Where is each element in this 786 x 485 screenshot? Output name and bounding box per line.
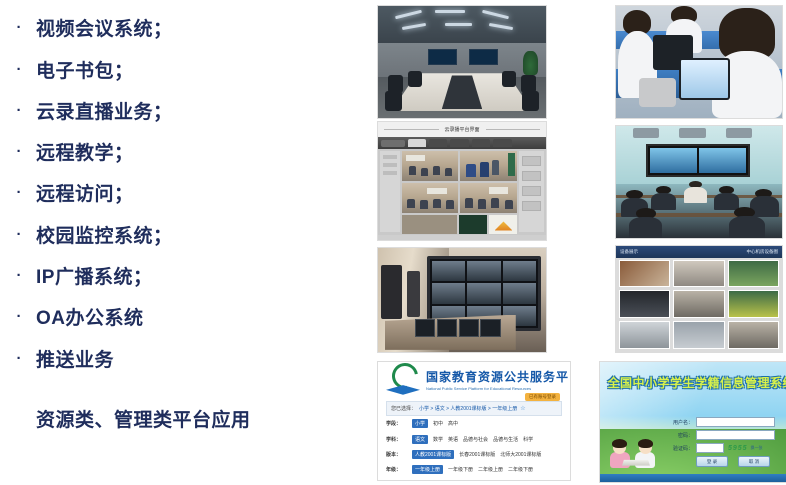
video-cell[interactable]	[402, 151, 459, 181]
breadcrumb-path[interactable]: 小学 > 语文 > 人教2001课标版 > 一年级上册	[419, 405, 517, 412]
gallery-thumb[interactable]	[728, 321, 779, 349]
remote-classroom-photo	[616, 126, 782, 238]
gallery-header-right: 中心机房设备图	[747, 249, 779, 255]
filmstrip-item[interactable]	[459, 215, 487, 234]
list-item: · 远程访问；	[14, 179, 134, 205]
platform-logo-icon	[386, 363, 420, 397]
video-cell-selected[interactable]	[460, 183, 517, 213]
username-input[interactable]	[696, 417, 775, 427]
tab-recording-manage[interactable]	[429, 139, 447, 147]
filmstrip-item[interactable]	[489, 215, 517, 234]
filter-option[interactable]: 品德与社会	[463, 436, 488, 443]
gallery-thumb[interactable]	[619, 260, 670, 288]
filter-option[interactable]: 品德与生活	[493, 436, 518, 443]
bullet-label: 电子书包；	[36, 56, 134, 83]
login-form: 用户名： 密码： 验证码： 5955 换一张 登 录 取 消	[667, 417, 775, 467]
filter-row-edition: 版本： 人教2001课标版 长春2001课标版 北师大2001课标版	[386, 447, 566, 462]
thumbnail-filmstrip	[402, 215, 518, 234]
filter-option-selected[interactable]: 人教2001课标版	[412, 450, 454, 459]
recording-platform-toolbar	[378, 137, 546, 149]
bullet-dot-icon: ·	[14, 185, 24, 200]
bullet-label: 远程教学；	[36, 138, 134, 165]
captcha-row: 验证码： 5955 换一张	[667, 443, 775, 453]
bullet-label: IP广播系统；	[36, 262, 152, 289]
filter-option[interactable]: 高中	[448, 420, 458, 427]
list-item: · 推送业务	[14, 345, 114, 371]
captcha-input[interactable]	[696, 443, 724, 453]
list-item: · 电子书包；	[14, 56, 134, 82]
username-label: 用户名：	[667, 419, 693, 426]
filmstrip-item[interactable]	[402, 215, 458, 234]
platform-title-cn: 国家教育资源公共服务平台	[426, 368, 570, 385]
education-resource-platform: 国家教育资源公共服务平台 National Public Service Pla…	[378, 362, 570, 480]
illustration-children	[607, 420, 670, 468]
bullet-list: · 视频会议系统； · 电子书包； · 云录直播业务； · 远程教学； · 远程…	[0, 0, 360, 485]
bullet-dot-icon: ·	[14, 62, 24, 77]
filter-label: 年级：	[386, 466, 412, 473]
gallery-header-left: 设备展示	[620, 249, 638, 255]
tablet-classroom-photo	[616, 6, 782, 118]
video-grid	[402, 151, 518, 213]
bullet-label: 校园监控系统；	[36, 221, 173, 248]
video-cell[interactable]	[460, 151, 517, 181]
filter-option[interactable]: 一年级下册	[448, 466, 473, 473]
breadcrumb: 您已选择： 小学 > 语文 > 人教2001课标版 > 一年级上册 ☆	[386, 401, 562, 416]
filter-option[interactable]: 北师大2001课标版	[500, 451, 541, 458]
gallery-header: 设备展示 中心机房设备图	[616, 246, 782, 258]
bullet-label: 远程访问；	[36, 179, 134, 206]
student-info-system-login: 全国中小学学生学籍信息管理系统 用户名： 密码： 验证码：	[600, 362, 786, 482]
recording-platform-screenshot: 云录播平台界面	[378, 122, 546, 240]
platform-side-panel	[380, 151, 400, 232]
password-row: 密码：	[667, 430, 775, 440]
list-item: · 视频会议系统；	[14, 14, 173, 40]
platform-control-panel	[519, 151, 544, 232]
refresh-captcha-link[interactable]: 换一张	[751, 445, 763, 451]
filter-option[interactable]: 长春2001课标版	[459, 451, 495, 458]
gallery-thumb[interactable]	[728, 260, 779, 288]
filter-option-selected[interactable]: 一年级上册	[412, 465, 443, 474]
list-item: · IP广播系统；	[14, 262, 152, 288]
filter-row-subject: 学科： 语文 数学 英语 品德与社会 品德与生活 科学	[386, 432, 566, 447]
bullet-dot-icon: ·	[14, 20, 24, 35]
gallery-thumb[interactable]	[619, 290, 670, 318]
filter-label: 学段：	[386, 420, 412, 427]
captcha-label: 验证码：	[667, 445, 693, 452]
dual-display	[646, 144, 750, 177]
bullet-dot-icon: ·	[14, 144, 24, 159]
filter-label: 学科：	[386, 436, 412, 443]
filter-option[interactable]: 二年级下册	[508, 466, 533, 473]
video-cell[interactable]	[402, 183, 459, 213]
bullet-label: 云录直播业务；	[36, 97, 173, 124]
platform-logo	[381, 140, 405, 147]
bullet-dot-icon: ·	[14, 268, 24, 283]
password-label: 密码：	[667, 432, 693, 439]
login-badge[interactable]: 已有账号登录	[525, 393, 560, 401]
filter-option[interactable]: 初中	[433, 420, 443, 427]
filter-rows: 学段： 小学 初中 高中 学科： 语文 数学 英语 品德与社会 品德与生活 科学…	[386, 416, 566, 477]
control-room-photo	[378, 248, 546, 352]
equipment-gallery: 设备展示 中心机房设备图	[616, 246, 782, 352]
username-row: 用户名：	[667, 417, 775, 427]
gallery-grid	[619, 260, 778, 349]
bullet-dot-icon: ·	[14, 351, 24, 366]
system-title: 全国中小学学生学籍信息管理系统	[607, 374, 778, 391]
list-item: · 远程教学；	[14, 138, 134, 164]
filter-label: 版本：	[386, 451, 412, 458]
filter-option[interactable]: 科学	[523, 436, 533, 443]
footer-caption: 资源类、管理类平台应用	[36, 405, 251, 432]
tab-user-manage[interactable]	[493, 139, 511, 147]
bullet-label: 视频会议系统；	[36, 14, 173, 41]
tab-course-resource[interactable]	[450, 139, 468, 147]
list-item: · 云录直播业务；	[14, 97, 173, 123]
platform-title-en: National Public Service Platform for Edu…	[426, 386, 570, 391]
filter-option[interactable]: 二年级上册	[478, 466, 503, 473]
presentation-slide: · 视频会议系统； · 电子书包； · 云录直播业务； · 远程教学； · 远程…	[0, 0, 786, 485]
recording-platform-caption: 云录播平台界面	[445, 126, 480, 133]
tab-system-settings[interactable]	[472, 139, 490, 147]
cancel-button[interactable]: 取 消	[738, 456, 770, 467]
bullet-dot-icon: ·	[14, 227, 24, 242]
breadcrumb-label: 您已选择：	[391, 405, 416, 412]
filter-row-grade: 年级： 一年级上册 一年级下册 二年级上册 二年级下册	[386, 462, 566, 477]
filter-option-selected[interactable]: 语文	[412, 435, 428, 444]
captcha-image: 5955	[728, 445, 748, 452]
gallery-thumb[interactable]	[673, 290, 724, 318]
gallery-thumb[interactable]	[728, 290, 779, 318]
favorite-star-icon[interactable]: ☆	[520, 405, 525, 412]
password-input[interactable]	[696, 430, 775, 440]
filter-option[interactable]: 英语	[448, 436, 458, 443]
bullet-label: 推送业务	[36, 345, 114, 372]
gallery-thumb[interactable]	[619, 321, 670, 349]
login-button[interactable]: 登 录	[696, 456, 728, 467]
bullet-label: OA办公系统	[36, 303, 144, 330]
gallery-thumb[interactable]	[673, 321, 724, 349]
tab-live-monitor[interactable]	[408, 139, 426, 147]
filter-option[interactable]: 数学	[433, 436, 443, 443]
recording-platform-caption-bar: 云录播平台界面	[378, 122, 546, 137]
bullet-dot-icon: ·	[14, 309, 24, 324]
list-item: · OA办公系统	[14, 303, 144, 329]
gallery-thumb[interactable]	[673, 260, 724, 288]
filter-row-stage: 学段： 小学 初中 高中	[386, 416, 566, 431]
bullet-dot-icon: ·	[14, 103, 24, 118]
list-item: · 校园监控系统；	[14, 221, 173, 247]
filter-option-selected[interactable]: 小学	[412, 419, 428, 428]
conference-room-photo	[378, 6, 546, 118]
